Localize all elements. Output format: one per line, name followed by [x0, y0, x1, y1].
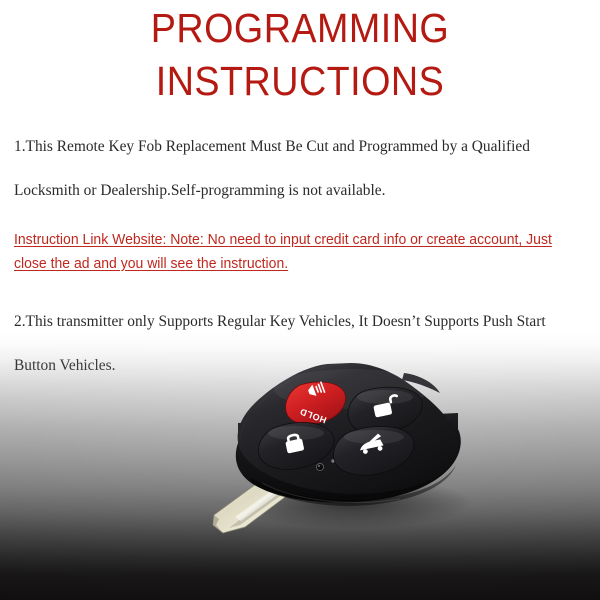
programming-instructions-page: PROGRAMMING INSTRUCTIONS 1.This Remote K… [0, 0, 600, 600]
instruction-link-note-line-2[interactable]: close the ad and you will see the instru… [14, 252, 571, 276]
instruction-item-1: 1.This Remote Key Fob Replacement Must B… [14, 125, 600, 213]
instruction-item-2: 2.This transmitter only Supports Regular… [14, 300, 600, 388]
page-title-line-1: PROGRAMMING [24, 2, 576, 55]
instruction-link-note[interactable]: Instruction Link Website: Note: No need … [14, 228, 594, 276]
instruction-item-2-line-1: 2.This transmitter only Supports Regular… [14, 300, 600, 344]
page-title-line-2: INSTRUCTIONS [24, 55, 576, 108]
instruction-item-2-line-2: Button Vehicles. [14, 344, 600, 388]
instruction-item-1-line-2: Locksmith or Dealership.Self-programming… [14, 169, 600, 213]
page-title: PROGRAMMING INSTRUCTIONS [0, 2, 600, 108]
instruction-item-1-line-1: 1.This Remote Key Fob Replacement Must B… [14, 125, 600, 169]
instruction-link-note-line-1[interactable]: Instruction Link Website: Note: No need … [14, 228, 571, 252]
